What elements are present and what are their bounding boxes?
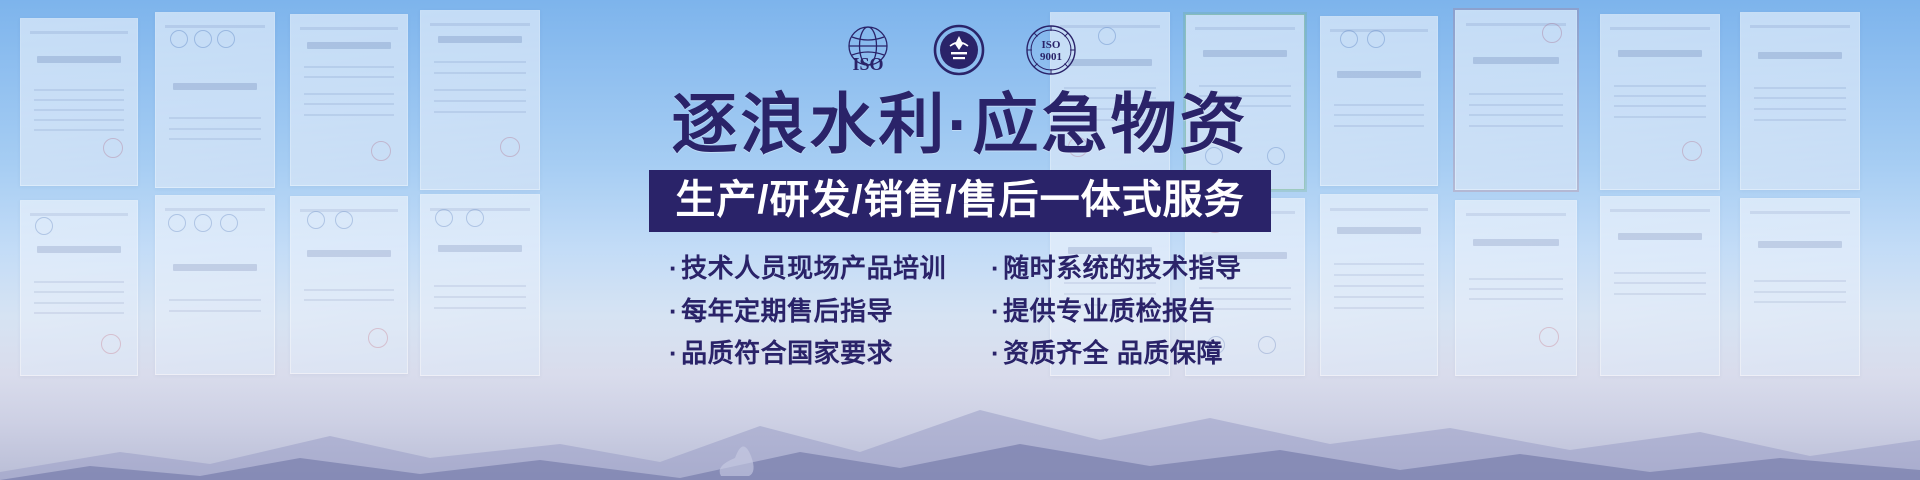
list-item: · 资质齐全 品质保障 (991, 339, 1251, 368)
list-item-label: 每年定期售后指导 (681, 297, 893, 326)
banner-content: ISO (0, 0, 1920, 368)
feature-bullet-list: · 技术人员现场产品培训 · 随时系统的技术指导 · 每年定期售后指导 · 提供… (669, 254, 1251, 368)
bullet-dot-icon: · (669, 339, 678, 368)
bullet-dot-icon: · (991, 339, 1000, 368)
list-item: · 提供专业质检报告 (991, 297, 1251, 326)
list-item-label: 技术人员现场产品培训 (681, 254, 946, 283)
list-item-label: 品质符合国家要求 (681, 339, 893, 368)
bullet-dot-icon: · (669, 297, 678, 326)
bullet-dot-icon: · (991, 254, 1000, 283)
list-item-label: 资质齐全 品质保障 (1003, 339, 1223, 368)
list-item: · 品质符合国家要求 (669, 339, 969, 368)
svg-text:ISO: ISO (1042, 39, 1061, 51)
svg-text:9001: 9001 (1040, 51, 1062, 63)
list-item-label: 提供专业质检报告 (1003, 297, 1215, 326)
bullet-dot-icon: · (991, 297, 1000, 326)
list-item: · 技术人员现场产品培训 (669, 254, 969, 283)
list-item: · 随时系统的技术指导 (991, 254, 1251, 283)
promo-banner: ISO (0, 0, 1920, 480)
iso-9001-badge: ISO 9001 (1023, 24, 1079, 76)
page-title: 逐浪水利·应急物资 (672, 90, 1249, 160)
list-item-label: 随时系统的技术指导 (1003, 254, 1242, 283)
svg-text:ISO: ISO (852, 54, 883, 74)
iso-badge: ISO (841, 24, 895, 76)
quality-emblem-badge (933, 24, 985, 76)
certification-badges: ISO (841, 24, 1079, 76)
subtitle-banner: 生产/研发/销售/售后一体式服务 (649, 170, 1270, 232)
list-item: · 每年定期售后指导 (669, 297, 969, 326)
bullet-dot-icon: · (669, 254, 678, 283)
